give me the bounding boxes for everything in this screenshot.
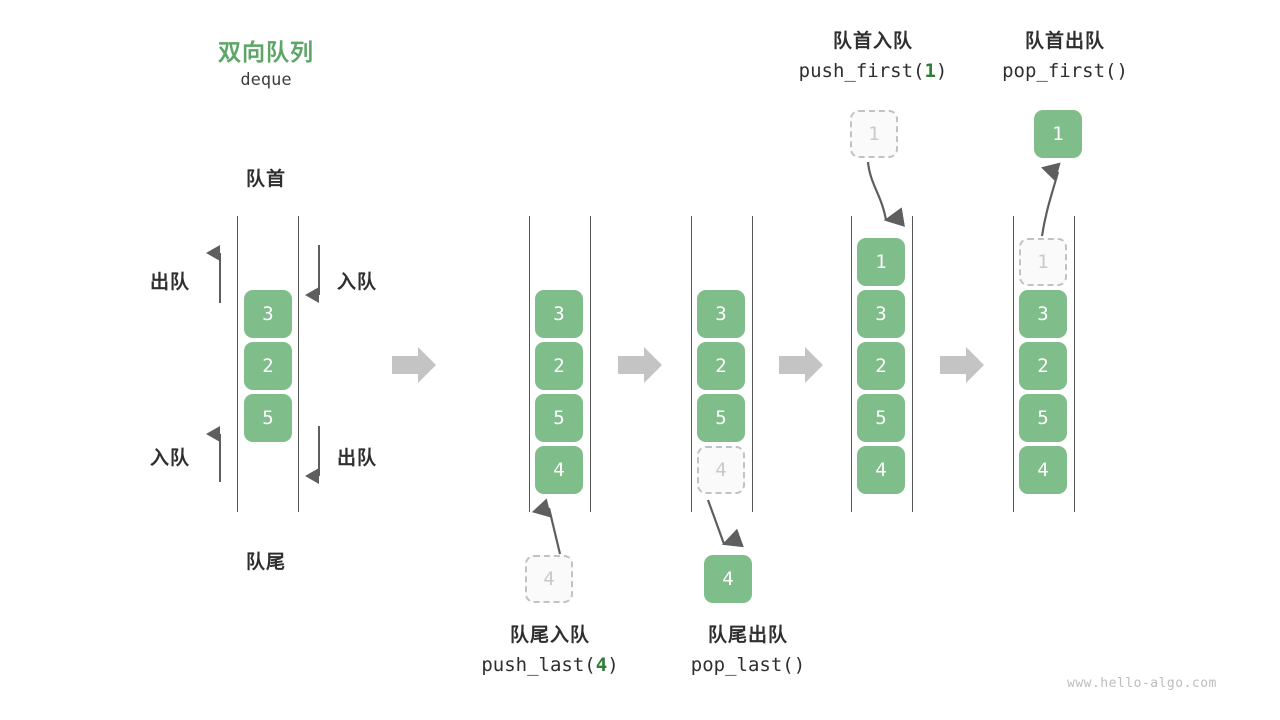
- enqueue-rear-arrow: [206, 424, 234, 486]
- deque-diagram: 双向队列 deque 队首 队尾 325 出队 入队 入队: [0, 0, 1280, 720]
- step-arrow-2: [618, 345, 662, 385]
- watermark: www.hello-algo.com: [1067, 676, 1217, 691]
- push-last-caption-code: push_last(4): [440, 650, 660, 680]
- value-box: 2: [857, 342, 905, 390]
- pop-first-arrow: [1030, 158, 1078, 238]
- value-box: 1: [1019, 238, 1067, 286]
- column-1-rail-left: [237, 216, 238, 512]
- push-last-arrow: [540, 496, 574, 558]
- side-label-top-left: 出队: [150, 267, 190, 294]
- value-box: 3: [1019, 290, 1067, 338]
- pop-last-arrow: [700, 496, 734, 558]
- value-box: 2: [697, 342, 745, 390]
- rear-label: 队尾: [216, 547, 316, 574]
- value-box: 4: [857, 446, 905, 494]
- diagram-title-en: deque: [166, 70, 366, 90]
- dequeue-rear-arrow: [305, 424, 333, 486]
- enqueue-front-arrow: [305, 243, 333, 305]
- column-3-rail-left: [691, 216, 692, 512]
- value-box: 1: [857, 238, 905, 286]
- diagram-title-cn: 双向队列: [166, 33, 366, 67]
- value-box: 5: [535, 394, 583, 442]
- value-box: 2: [1019, 342, 1067, 390]
- value-box: 3: [697, 290, 745, 338]
- step-arrow-4: [940, 345, 984, 385]
- step-arrow-3: [779, 345, 823, 385]
- dequeue-front-arrow: [206, 243, 234, 305]
- value-box: 2: [535, 342, 583, 390]
- column-5-rail-left: [1013, 216, 1014, 512]
- column-1-rail-right: [298, 216, 299, 512]
- push-first-source-box: 1: [850, 110, 898, 158]
- push-first-caption-cn: 队首入队: [768, 28, 978, 56]
- pop-first-caption-code: pop_first(): [955, 56, 1175, 86]
- pop-last-caption-code: pop_last(): [643, 650, 853, 680]
- pop-first-caption-cn: 队首出队: [955, 28, 1175, 56]
- push-first-caption: 队首入队 push_first(1): [768, 28, 978, 86]
- value-box: 3: [535, 290, 583, 338]
- side-label-top-right: 入队: [337, 267, 377, 294]
- front-label: 队首: [216, 164, 316, 191]
- column-5-rail-right: [1074, 216, 1075, 512]
- value-box: 4: [1019, 446, 1067, 494]
- column-3-rail-right: [752, 216, 753, 512]
- value-box: 3: [857, 290, 905, 338]
- column-2-rail-right: [590, 216, 591, 512]
- push-last-caption: 队尾入队 push_last(4): [440, 622, 660, 680]
- column-2-rail-left: [529, 216, 530, 512]
- pop-last-result-box: 4: [704, 555, 752, 603]
- value-box: 4: [535, 446, 583, 494]
- value-box: 5: [1019, 394, 1067, 442]
- pop-last-caption-cn: 队尾出队: [643, 622, 853, 650]
- pop-first-caption: 队首出队 pop_first(): [955, 28, 1175, 86]
- column-4-rail-left: [851, 216, 852, 512]
- pop-first-result-box: 1: [1034, 110, 1082, 158]
- value-box: 4: [697, 446, 745, 494]
- side-label-bottom-left: 入队: [150, 443, 190, 470]
- push-first-arrow: [860, 160, 900, 236]
- value-box: 2: [244, 342, 292, 390]
- push-first-caption-code: push_first(1): [768, 56, 978, 86]
- step-arrow-1: [392, 345, 436, 385]
- pop-last-caption: 队尾出队 pop_last(): [643, 622, 853, 680]
- value-box: 5: [697, 394, 745, 442]
- column-4-rail-right: [912, 216, 913, 512]
- value-box: 5: [244, 394, 292, 442]
- push-last-source-box: 4: [525, 555, 573, 603]
- push-last-caption-cn: 队尾入队: [440, 622, 660, 650]
- value-box: 5: [857, 394, 905, 442]
- side-label-bottom-right: 出队: [337, 443, 377, 470]
- value-box: 3: [244, 290, 292, 338]
